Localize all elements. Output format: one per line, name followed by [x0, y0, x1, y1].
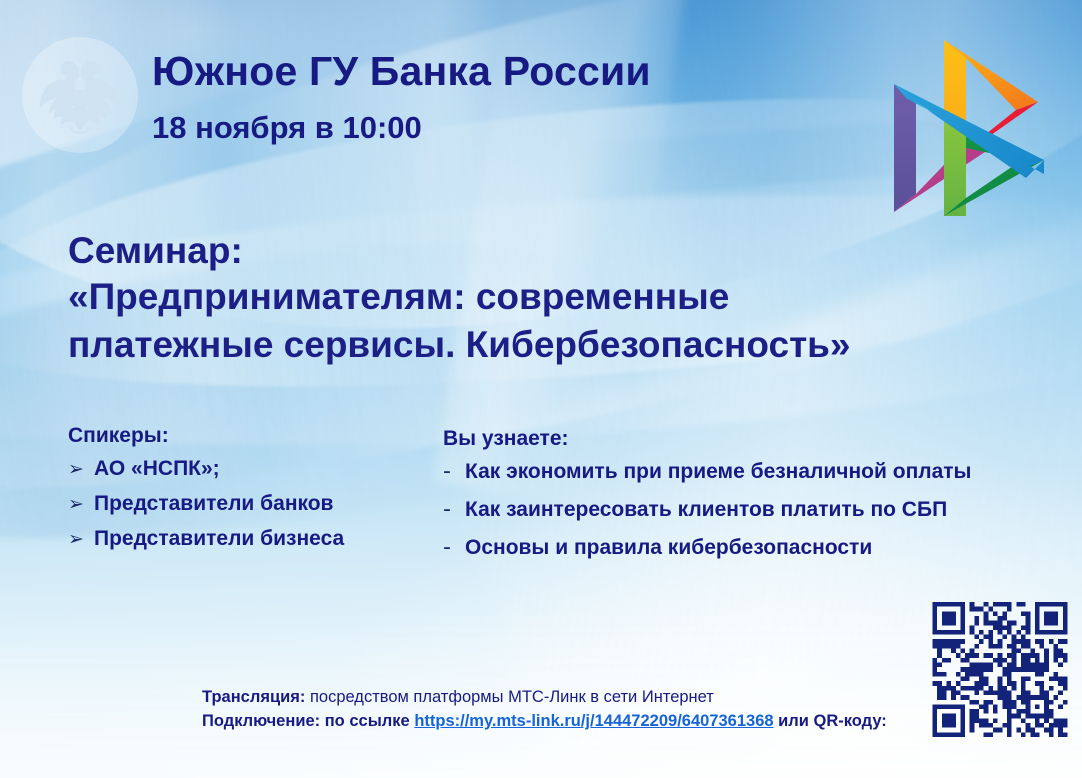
broadcast-link[interactable]: https://my.mts-link.ru/j/144472209/64073… [414, 712, 773, 730]
seminar-poster: Южное ГУ Банка России 18 ноября в 10:00 [0, 0, 1082, 778]
broadcast-label: Трансляция: [202, 688, 305, 706]
speakers-heading: Спикеры: [68, 424, 448, 448]
speaker-label: Представители бизнеса [94, 527, 344, 551]
page-title: Южное ГУ Банка России [152, 48, 651, 95]
seminar-title-line-1: «Предпринимателям: современные [68, 273, 1028, 321]
connect-line: Подключение: по ссылке https://my.mts-li… [202, 710, 887, 734]
list-item: ➢ Представители бизнеса [68, 527, 448, 551]
list-item: - Как заинтересовать клиентов платить по… [443, 498, 1063, 522]
broadcast-line: Трансляция: посредством платформы МТС-Ли… [202, 686, 887, 710]
learn-label: Как заинтересовать клиентов платить по С… [465, 498, 947, 522]
learn-label: Основы и правила кибербезопасности [465, 536, 872, 560]
arrow-bullet-icon: ➢ [68, 460, 94, 479]
learn-heading: Вы узнаете: [443, 427, 1063, 451]
broadcast-text: посредством платформы МТС-Линк в сети Ин… [305, 688, 713, 706]
dash-bullet-icon: - [443, 499, 465, 521]
dash-bullet-icon: - [443, 537, 465, 559]
qr-code[interactable] [932, 602, 1068, 737]
sbp-faster-payments-logo-icon [866, 28, 1072, 224]
list-item: ➢ Представители банков [68, 492, 448, 516]
speaker-label: АО «НСПК»; [94, 457, 220, 481]
speaker-label: Представители банков [94, 492, 333, 516]
event-datetime: 18 ноября в 10:00 [152, 110, 422, 146]
footer: Трансляция: посредством платформы МТС-Ли… [202, 686, 887, 734]
connect-label: Подключение: по ссылке [202, 712, 410, 730]
seminar-label: Семинар: [68, 230, 1028, 273]
learn-label: Как экономить при приеме безналичной опл… [465, 460, 972, 484]
dash-bullet-icon: - [443, 461, 465, 483]
list-item: ➢ АО «НСПК»; [68, 457, 448, 481]
arrow-bullet-icon: ➢ [68, 495, 94, 514]
list-item: - Основы и правила кибербезопасности [443, 536, 1063, 560]
bank-of-russia-eagle-icon [22, 37, 138, 153]
qr-suffix-label: или QR-коду: [778, 712, 887, 730]
seminar-title-block: Семинар: «Предпринимателям: современные … [68, 230, 1028, 369]
arrow-bullet-icon: ➢ [68, 530, 94, 549]
learning-outcomes-column: Вы узнаете: - Как экономить при приеме б… [443, 427, 1063, 574]
list-item: - Как экономить при приеме безналичной о… [443, 460, 1063, 484]
speakers-column: Спикеры: ➢ АО «НСПК»; ➢ Представители ба… [68, 424, 448, 562]
seminar-title-line-2: платежные сервисы. Кибербезопасность» [68, 321, 1028, 369]
